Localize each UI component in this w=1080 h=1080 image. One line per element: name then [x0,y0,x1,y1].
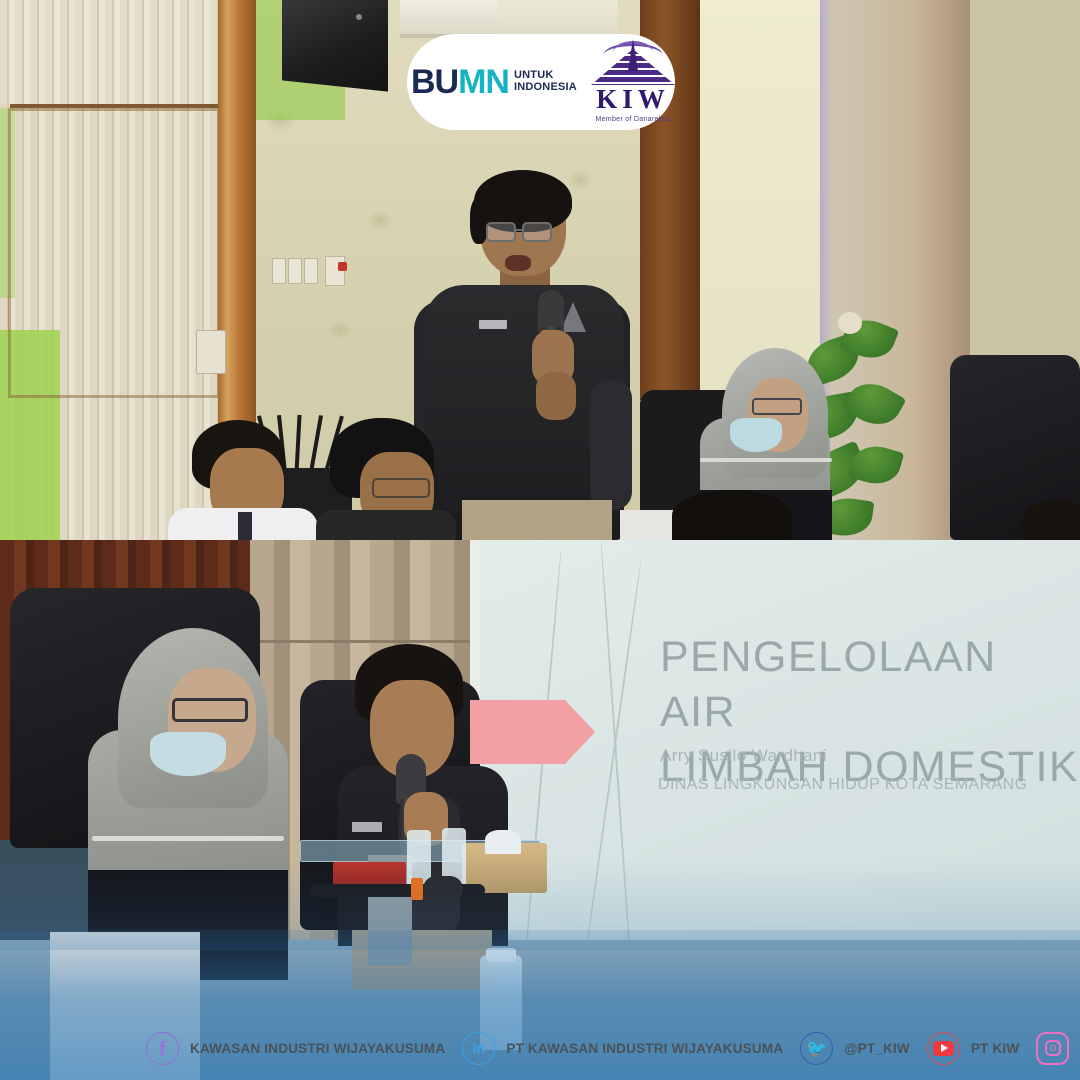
kiw-wordmark: KIW [596,86,670,113]
window-frame [8,108,220,398]
garment-trim-bottom [92,836,284,841]
linkedin-handle: PT KAWASAN INDUSTRI WIJAYAKUSUMA [506,1041,783,1056]
presenter-mouth [505,255,531,271]
wall-panel [325,256,345,286]
flower [838,312,862,334]
bumn-wordmark-primary: BU [411,63,458,101]
slide-presenter-name: Arry Susilo Wardhani [660,746,1080,766]
slide-title-line-1: PENGELOLAAN AIR [660,630,1080,740]
wall-outlet [196,330,226,374]
eyeglasses-bridge [515,229,523,231]
linkedin-icon[interactable]: in [462,1032,495,1065]
presenter-eyeglasses-left [486,222,516,242]
kiw-logo: KIW Member of Danareksa [591,41,675,123]
indicator-light [338,262,347,271]
shirt-logo-left [479,320,507,329]
youtube-icon[interactable] [927,1032,960,1065]
social-media-bar: f KAWASAN INDUSTRI WIJAYAKUSUMA in PT KA… [0,1022,1080,1074]
slide-organization: DINAS LINGKUNGAN HIDUP KOTA SEMARANG [658,776,1078,794]
bumn-wordmark: BUMN [411,65,509,99]
instagram-icon[interactable] [1036,1032,1069,1065]
attendee-eyeglasses-2 [372,478,430,498]
shirt-logo [352,822,382,832]
tissue-sheet [485,830,521,854]
speaker-led [356,14,362,20]
brand-logo-pill: BUMN UNTUK INDONESIA KIW Member of Danar… [407,34,675,130]
attendee-shirt-2 [316,510,456,540]
wall-speaker [282,0,388,92]
light-switch [288,258,302,284]
presenter-arm-right [590,380,632,510]
presenter-trousers [462,500,612,540]
presenter-hand-lower [536,372,576,420]
attendee-tie [238,512,252,540]
bumn-wordmark-accent: MN [458,63,509,101]
twitter-handle: @PT_KIW [844,1041,910,1056]
social-twitter[interactable]: 🐦 @PT_KIW [800,1032,910,1065]
youtube-handle: PT KIW [971,1041,1019,1056]
bumn-tagline-line-2: INDONESIA [514,82,577,94]
social-instagram[interactable]: @PTKIW [1036,1032,1080,1065]
bumn-logo: BUMN UNTUK INDONESIA [411,65,577,99]
facebook-icon[interactable]: f [146,1032,179,1065]
wood-panel-seam [250,640,480,643]
social-linkedin[interactable]: in PT KAWASAN INDUSTRI WIJAYAKUSUMA [462,1032,783,1065]
speaker-face-mask [150,732,226,776]
slide-title: PENGELOLAAN AIR LIMBAH DOMESTIK [660,630,1080,795]
attendee-head-foreground-right [1022,500,1080,540]
attendee-foreground-shirt [620,510,680,540]
facebook-handle: KAWASAN INDUSTRI WIJAYAKUSUMA [190,1041,445,1056]
garment-trim [700,458,832,462]
social-media-post: PENGELOLAAN AIR LIMBAH DOMESTIK Arry Sus… [0,0,1080,1080]
light-switch [304,258,318,284]
kiw-member-of: Member of Danareksa [595,116,670,123]
kiw-emblem-icon [591,41,675,85]
presenter-eyeglasses-right [522,222,552,242]
social-facebook[interactable]: f KAWASAN INDUSTRI WIJAYAKUSUMA [146,1032,445,1065]
attendee-head-foreground [672,490,792,540]
face-mask [730,418,782,452]
eyeglasses [752,398,802,415]
bumn-tagline: UNTUK INDONESIA [514,70,577,94]
blinds-upper [0,0,222,104]
speaker-eyeglasses [172,698,248,722]
social-youtube[interactable]: PT KIW [927,1032,1019,1065]
light-switch [272,258,286,284]
twitter-icon[interactable]: 🐦 [800,1032,833,1065]
